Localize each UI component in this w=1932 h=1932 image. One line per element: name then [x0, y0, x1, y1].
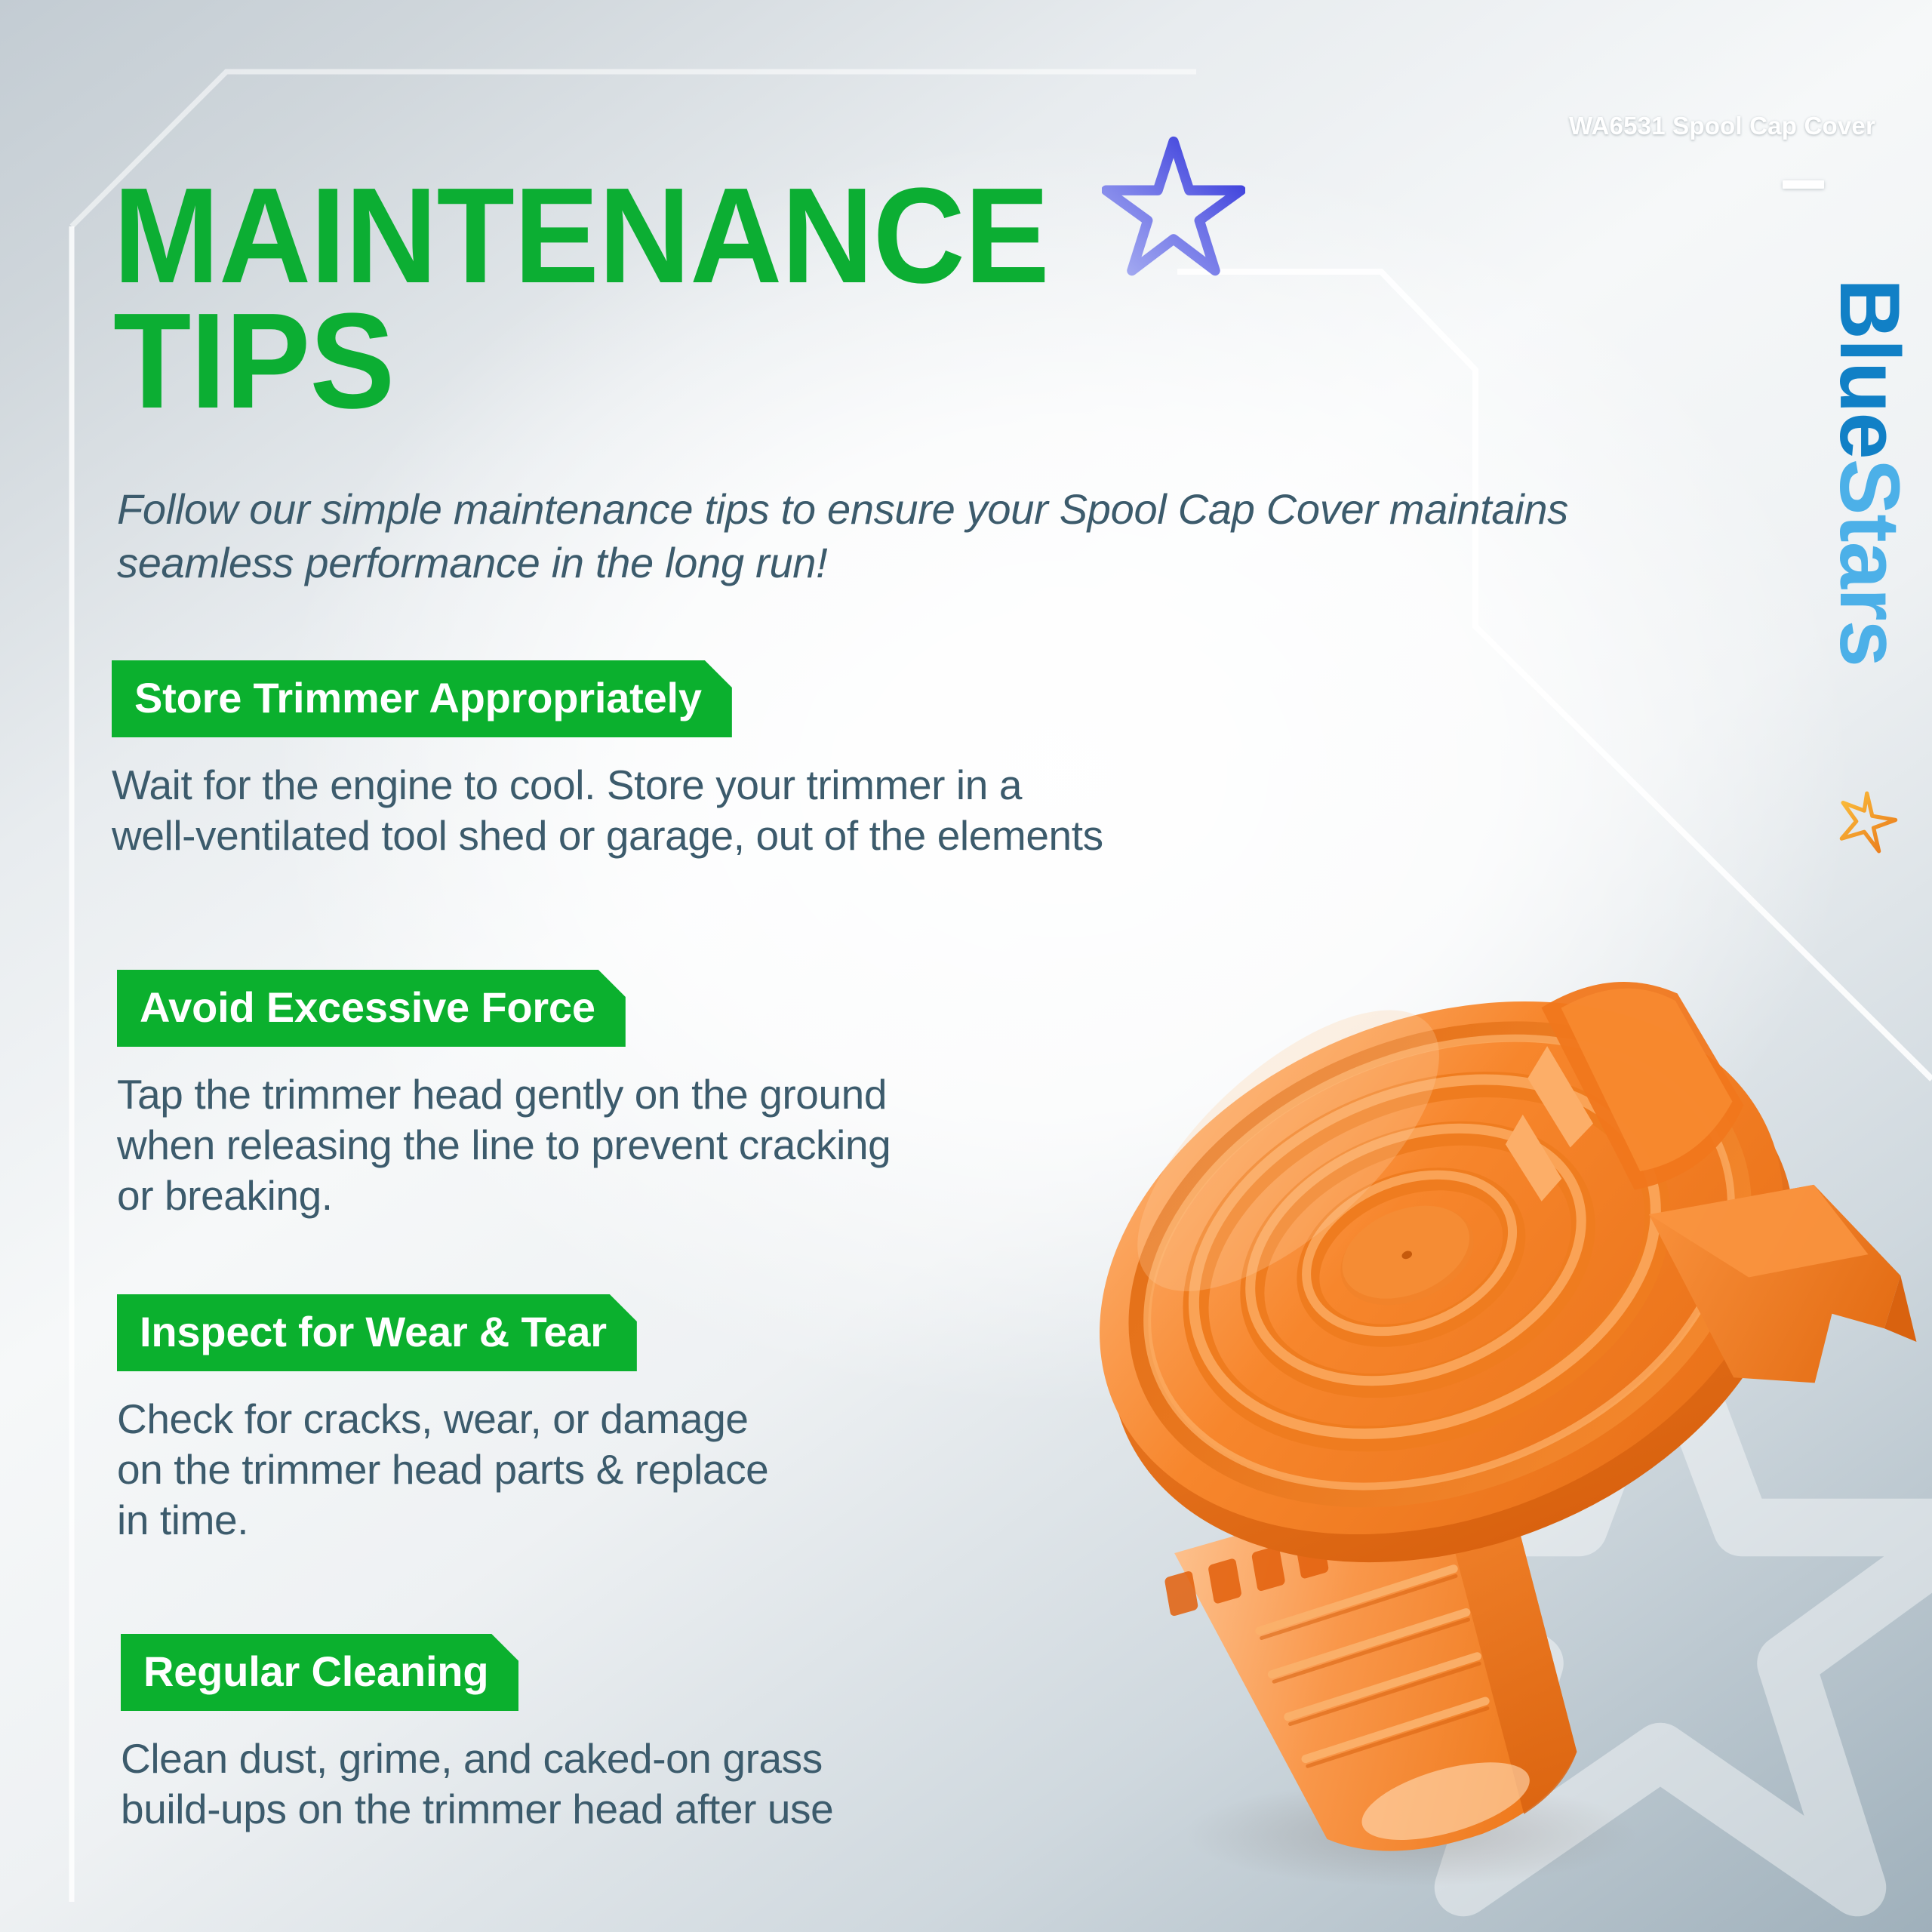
tips-list: Store Trimmer Appropriately Wait for the…: [0, 0, 1932, 1932]
tip-badge: Store Trimmer Appropriately: [112, 660, 732, 737]
tip-badge: Regular Cleaning: [121, 1634, 518, 1711]
sparkle-star-icon: [1832, 789, 1899, 856]
tip-badge: Avoid Excessive Force: [117, 970, 626, 1047]
tip-item: Avoid Excessive Force Tap the trimmer he…: [117, 970, 891, 1221]
tip-badge: Inspect for Wear & Tear: [117, 1294, 637, 1371]
brand-logo: BlueStars: [1822, 278, 1920, 851]
tip-item: Inspect for Wear & Tear Check for cracks…: [117, 1294, 768, 1546]
tip-body: Check for cracks, wear, or damage on the…: [117, 1394, 768, 1546]
tip-body: Wait for the engine to cool. Store your …: [112, 760, 1103, 861]
tip-item: Store Trimmer Appropriately Wait for the…: [112, 660, 1103, 861]
brand-name: BlueStars: [1821, 278, 1919, 852]
tip-body: Tap the trimmer head gently on the groun…: [117, 1069, 891, 1221]
brand-name-blue: Blue: [1822, 278, 1919, 459]
infographic-canvas: WA6531 Spool Cap Cover MAINTENANCE TIPS …: [0, 0, 1932, 1932]
brand-name-stars: Stars: [1822, 459, 1919, 666]
tip-item: Regular Cleaning Clean dust, grime, and …: [121, 1634, 833, 1835]
tip-body: Clean dust, grime, and caked-on grass bu…: [121, 1734, 833, 1835]
